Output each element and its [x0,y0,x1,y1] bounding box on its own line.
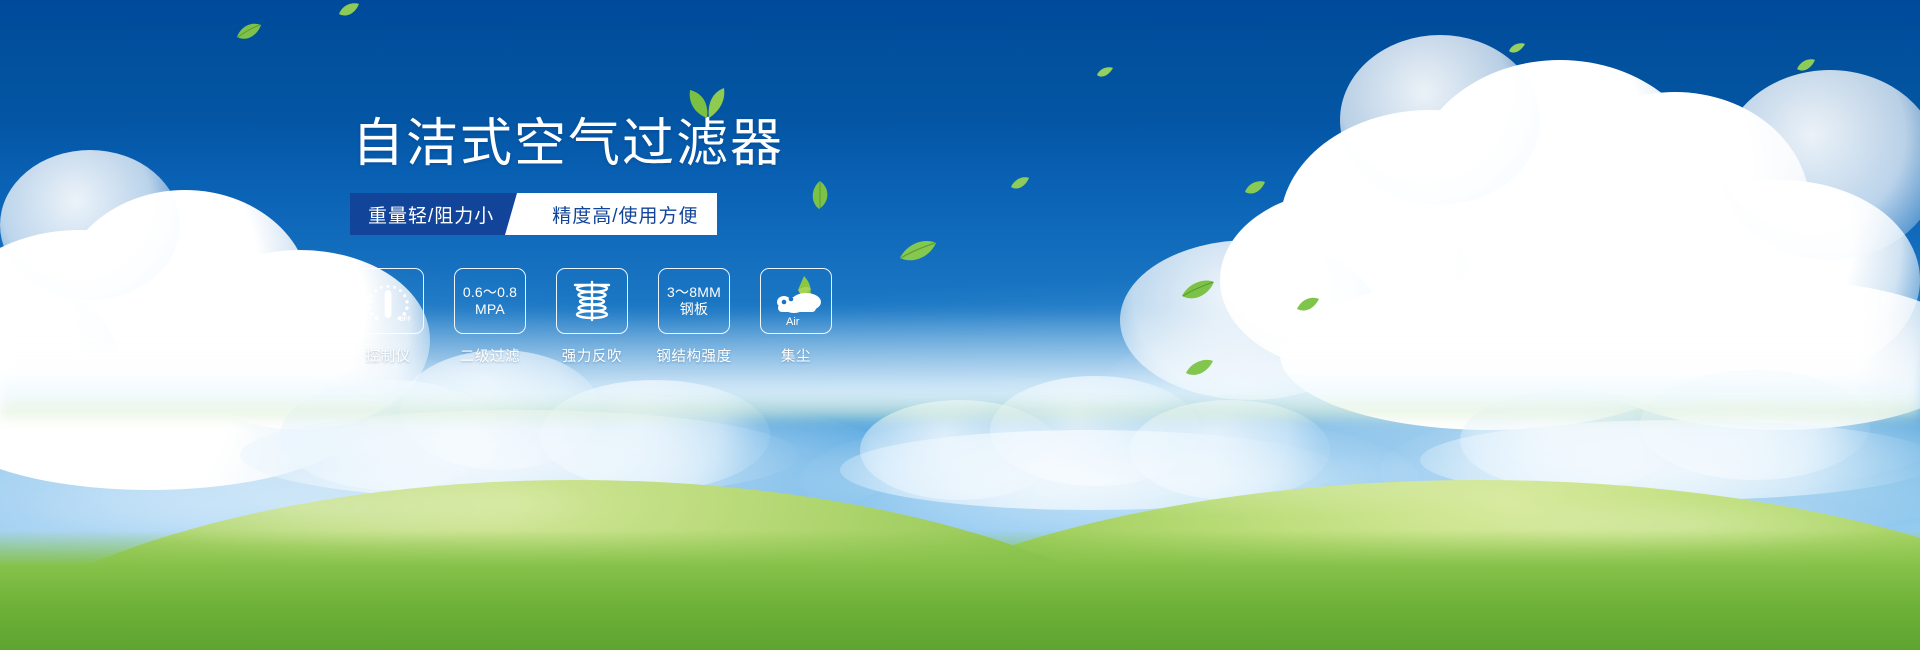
air-blowback-coil-icon [556,268,628,334]
feature-label-control: 控制仪 [365,345,410,366]
feature-item-steel[interactable]: 3～8MM 钢板 钢结构强度 [658,268,730,366]
pressure-text-icon: 0.6～0.8 MPA [454,268,526,334]
pressure-value: 0.6～0.8 MPA [463,284,517,318]
steel-plate-text-icon: 3～8MM 钢板 [658,268,730,334]
feature-item-dust[interactable]: Air 集尘 [760,268,832,366]
banner-title-block: 自洁式空气过滤器 [352,112,784,176]
gauge-no-label: NO [364,299,373,305]
feature-tagline: 重量轻/阻力小 精度高/使用方便 [350,193,717,235]
feature-label-blowback: 强力反吹 [562,345,622,366]
feature-item-control[interactable]: NO OFF 控制仪 [352,268,424,366]
feature-item-filter[interactable]: 0.6～0.8 MPA 二级过滤 [454,268,526,366]
feature-label-steel: 钢结构强度 [656,345,732,366]
air-cloud-dust-icon: Air [760,268,832,334]
gauge-off-label: OFF [399,317,411,323]
steel-plate-value: 3～8MM 钢板 [667,284,721,318]
control-gauge-switch-icon: NO OFF [352,268,424,334]
air-label: Air [786,316,800,328]
feature-list: NO OFF 控制仪 0.6～0.8 MPA 二级过滤 [352,268,832,366]
tagline-left: 重量轻/阻力小 [350,193,520,235]
tagline-right: 精度高/使用方便 [522,193,716,235]
banner-stage: 自洁式空气过滤器 重量轻/阻力小 精度高/使用方便 [0,0,1920,650]
green-leaf-pair-icon [682,80,734,120]
feature-label-filter: 二级过滤 [460,345,520,366]
feature-label-dust: 集尘 [781,345,811,366]
feature-item-blowback[interactable]: 强力反吹 [556,268,628,366]
page-title: 自洁式空气过滤器 [352,112,784,176]
